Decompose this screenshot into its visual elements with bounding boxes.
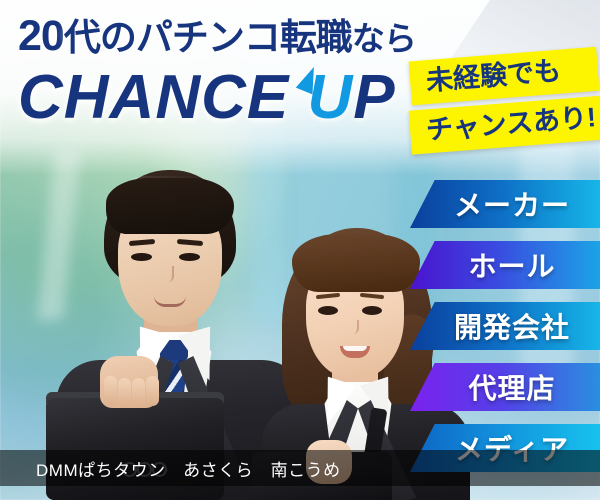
male-nose (164, 266, 174, 282)
tag-label: ホール (454, 245, 555, 285)
badge-line-1: 未経験でも (408, 47, 599, 106)
headline-line-1: 20代のパチンコ転職なら (18, 14, 416, 61)
no-experience-badge: 未経験でも チャンスあり! (410, 54, 600, 147)
logo-word-chance: CHANCE (18, 63, 289, 132)
male-eye-right (179, 253, 200, 261)
male-finger (118, 378, 131, 408)
recruitment-banner: 20代のパチンコ転職なら CHANCE UP 未経験でも チャンスあり! メーカ… (0, 0, 600, 500)
chance-up-logo: CHANCE UP (18, 62, 396, 134)
male-finger (132, 378, 145, 408)
male-finger (104, 376, 117, 406)
tag-label: 開発会社 (440, 306, 570, 346)
female-eye-left (318, 306, 338, 315)
female-fringe (292, 234, 420, 292)
headline-suffix-text: なら (352, 20, 416, 57)
logo-letter-p: P (353, 63, 395, 132)
tag-development-company[interactable]: 開発会社 (410, 302, 600, 350)
tag-hall[interactable]: ホール (410, 241, 600, 289)
male-eye-left (131, 253, 152, 261)
caption-bar: DMMぱちタウン あさくら 南こうめ (0, 450, 600, 486)
male-fringe (106, 178, 234, 234)
female-eye-right (362, 306, 382, 315)
tag-agency[interactable]: 代理店 (410, 363, 600, 411)
headline-number: 20 (18, 12, 64, 60)
headline-main-text: 代のパチンコ転職 (64, 17, 352, 58)
badge-line-2: チャンスあり! (408, 95, 600, 154)
tag-label: メーカー (440, 184, 570, 224)
headline: 20代のパチンコ転職なら (18, 14, 416, 61)
tag-maker[interactable]: メーカー (410, 180, 600, 228)
caption-text: DMMぱちタウン あさくら 南こうめ (0, 456, 341, 481)
male-finger (146, 376, 159, 406)
job-category-tag-list: メーカー ホール 開発会社 代理店 メディア (410, 180, 600, 485)
tag-label: 代理店 (454, 367, 555, 407)
female-teeth (343, 346, 367, 351)
